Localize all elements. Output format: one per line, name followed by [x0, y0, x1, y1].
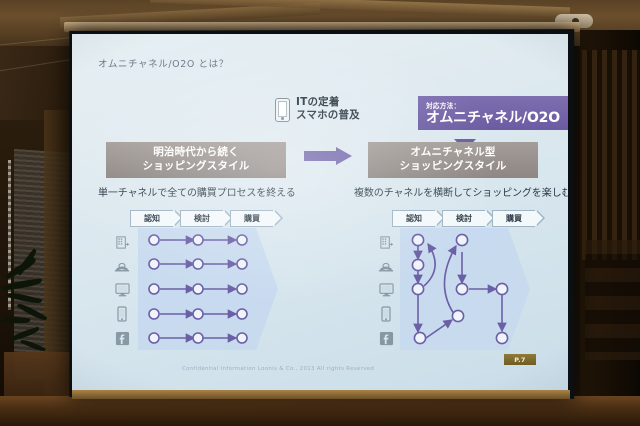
left-journey-diagram [138, 228, 290, 350]
stage-chevron: 検討 [180, 210, 223, 227]
facebook-icon [112, 326, 132, 350]
stage-chevron: 認知 [130, 210, 173, 227]
right-heading-line2: ショッピングスタイル [400, 160, 507, 174]
facebook-icon [376, 326, 396, 350]
right-stage-chevrons: 認知 検討 購買 [392, 210, 542, 227]
left-stage-chevrons: 認知 検討 購買 [130, 210, 280, 227]
projected-slide: オムニチャネル/O2O とは？ ITの定着 スマホの普及 対応方法： オムニチャ… [72, 34, 568, 390]
it-driver-line2: スマホの普及 [296, 109, 360, 122]
mobile-phone-icon [112, 302, 132, 326]
right-channel-icons [376, 230, 396, 350]
callout-box: 対応方法： オムニチャネル/O2O [418, 96, 568, 130]
right-journey-diagram [400, 228, 540, 350]
slide-footer: Confidential Information Loonis & Co., 2… [182, 366, 374, 372]
store-icon [112, 230, 132, 254]
it-driver-block: ITの定着 スマホの普及 [275, 96, 360, 123]
right-caption: 複数のチャネルを横断してショッピングを楽しむ [354, 184, 568, 199]
stage-chevron: 購買 [230, 210, 273, 227]
wall-slats [582, 50, 640, 260]
desktop-monitor-icon [112, 278, 132, 302]
stage-chevron: 認知 [392, 210, 435, 227]
shelving-unit [585, 240, 640, 360]
callout-label: 対応方法： [426, 100, 568, 110]
store-icon [376, 230, 396, 254]
photograph-of-projected-slide: オムニチャネル/O2O とは？ ITの定着 スマホの普及 対応方法： オムニチャ… [0, 0, 640, 426]
left-heading-line2: ショッピングスタイル [143, 160, 250, 174]
left-channel-icons [112, 230, 132, 350]
it-driver-text: ITの定着 スマホの普及 [296, 96, 360, 123]
potted-plant [2, 255, 64, 385]
right-heading-line1: オムニチャネル型 [410, 146, 495, 160]
mobile-phone-icon [376, 302, 396, 326]
screen-bottom-rail [72, 390, 570, 399]
it-driver-line1: ITの定着 [296, 96, 360, 109]
arrow-right-icon [304, 147, 356, 165]
stage-chevron: 購買 [492, 210, 535, 227]
right-heading-box: オムニチャネル型 ショッピングスタイル [368, 142, 538, 178]
callout-value: オムニチャネル/O2O [426, 111, 568, 125]
stage-chevron: 検討 [442, 210, 485, 227]
page-number-badge: P.7 [504, 354, 536, 365]
left-caption: 単一チャネルで全ての購買プロセスを終える [98, 184, 296, 199]
desktop-monitor-icon [376, 278, 396, 302]
telephone-icon [112, 254, 132, 278]
left-heading-line1: 明治時代から続く [153, 146, 239, 160]
mobile-phone-icon [275, 98, 290, 122]
telephone-icon [376, 254, 396, 278]
left-heading-box: 明治時代から続く ショッピングスタイル [106, 142, 286, 178]
page-title: オムニチャネル/O2O とは？ [98, 56, 229, 70]
floor [0, 396, 640, 426]
